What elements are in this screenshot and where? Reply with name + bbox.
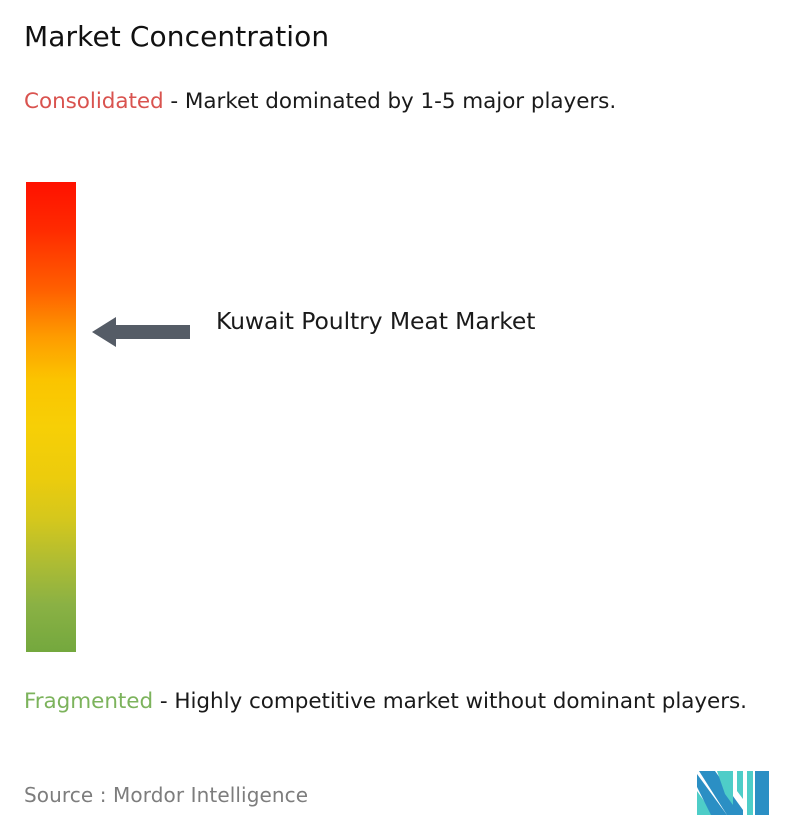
market-marker-label: Kuwait Poultry Meat Market bbox=[216, 304, 546, 338]
legend-fragmented: Fragmented - Highly competitive market w… bbox=[24, 686, 784, 717]
legend-term-fragmented: Fragmented bbox=[24, 689, 153, 714]
page-title: Market Concentration bbox=[24, 20, 329, 54]
legend-term-consolidated: Consolidated bbox=[24, 89, 164, 114]
legend-description-fragmented: - Highly competitive market without domi… bbox=[153, 689, 747, 714]
source-attribution: Source : Mordor Intelligence bbox=[24, 782, 308, 808]
left-arrow-icon bbox=[90, 313, 192, 351]
legend-consolidated: Consolidated - Market dominated by 1-5 m… bbox=[24, 86, 784, 117]
legend-description-consolidated: - Market dominated by 1-5 major players. bbox=[164, 89, 616, 114]
concentration-gradient-bar bbox=[26, 182, 76, 652]
mordor-intelligence-logo bbox=[697, 769, 769, 815]
